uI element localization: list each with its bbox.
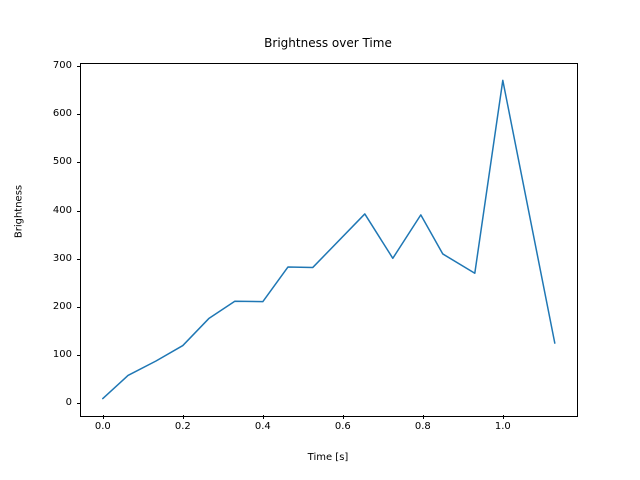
x-tick-mark: [503, 415, 504, 419]
chart-title: Brightness over Time: [80, 36, 576, 50]
y-tick-mark: [77, 66, 81, 67]
y-tick-mark: [77, 307, 81, 308]
x-tick-mark: [183, 415, 184, 419]
x-tick-label: 0.0: [73, 421, 133, 432]
x-tick-label: 0.6: [313, 421, 373, 432]
plot-area: [80, 63, 578, 417]
x-tick-mark: [343, 415, 344, 419]
y-tick-label: 600: [0, 107, 72, 121]
y-tick-label: 400: [0, 204, 72, 218]
x-tick-mark: [103, 415, 104, 419]
x-tick-label: 1.0: [473, 421, 533, 432]
x-axis-label: Time [s]: [80, 452, 576, 463]
y-tick-mark: [77, 162, 81, 163]
y-tick-label: 300: [0, 252, 72, 266]
y-tick-label: 100: [0, 348, 72, 362]
y-tick-mark: [77, 259, 81, 260]
y-tick-mark: [77, 355, 81, 356]
x-tick-label: 0.2: [153, 421, 213, 432]
x-tick-label: 0.8: [393, 421, 453, 432]
y-tick-label: 500: [0, 155, 72, 169]
y-tick-label: 0: [0, 396, 72, 410]
y-tick-mark: [77, 114, 81, 115]
chart-figure: Brightness over Time Brightness 0.00.20.…: [0, 0, 640, 480]
x-tick-mark: [263, 415, 264, 419]
x-tick-mark: [423, 415, 424, 419]
y-tick-label: 700: [0, 59, 72, 73]
x-tick-label: 0.4: [233, 421, 293, 432]
y-tick-label: 200: [0, 300, 72, 314]
y-tick-mark: [77, 403, 81, 404]
y-tick-mark: [77, 211, 81, 212]
